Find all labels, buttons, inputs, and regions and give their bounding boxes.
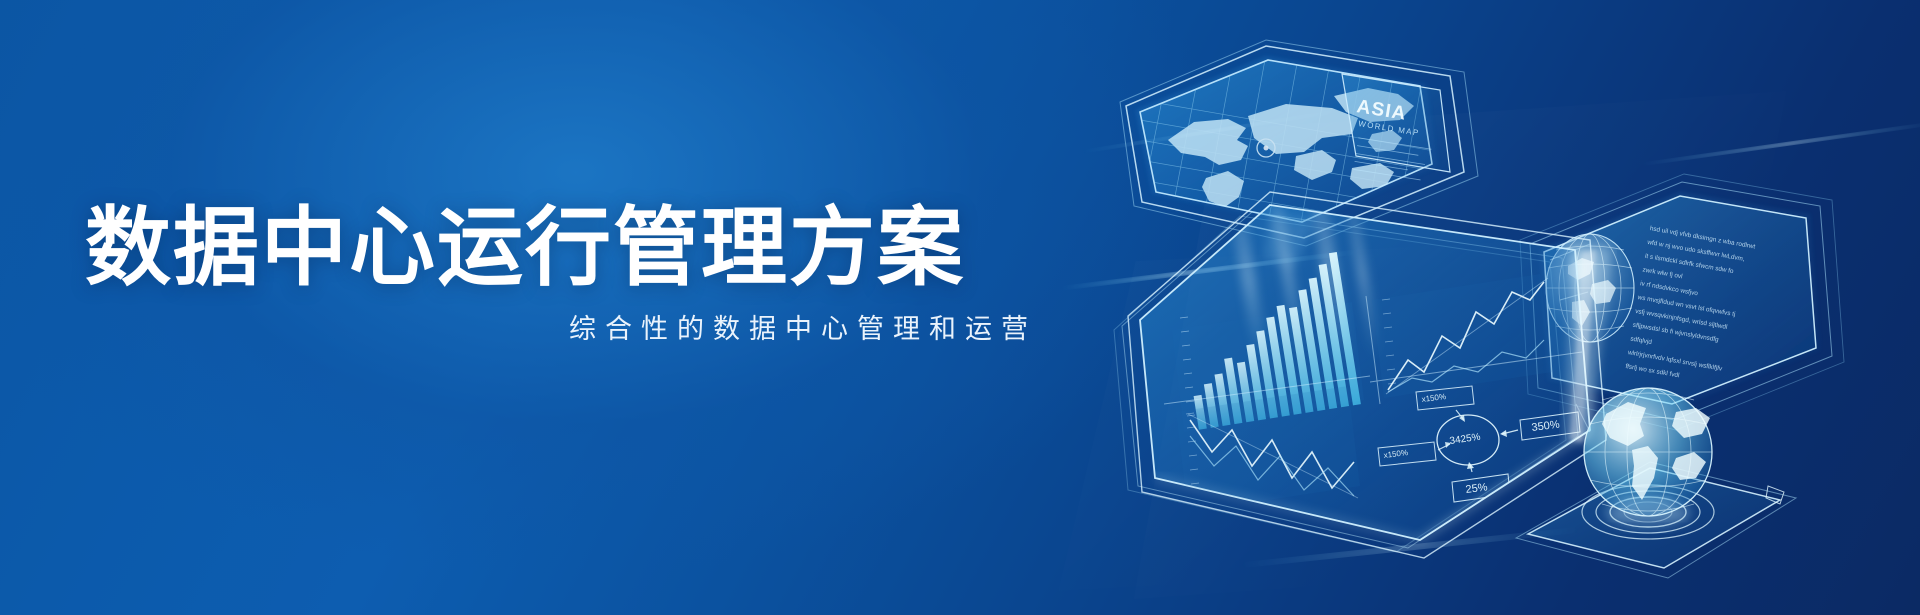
page-title: 数据中心运行管理方案 bbox=[85, 205, 1045, 291]
hologram-scene: ASIA WORLD MAP bbox=[1120, 0, 1920, 615]
page-subtitle: 综合性的数据中心管理和运营 bbox=[85, 313, 1045, 345]
hero-banner: 数据中心运行管理方案 综合性的数据中心管理和运营 bbox=[0, 0, 1920, 615]
dashboard-panel: 3425% x150% x150% 350% bbox=[1114, 150, 1606, 558]
headline-block: 数据中心运行管理方案 综合性的数据中心管理和运营 bbox=[85, 205, 1045, 345]
